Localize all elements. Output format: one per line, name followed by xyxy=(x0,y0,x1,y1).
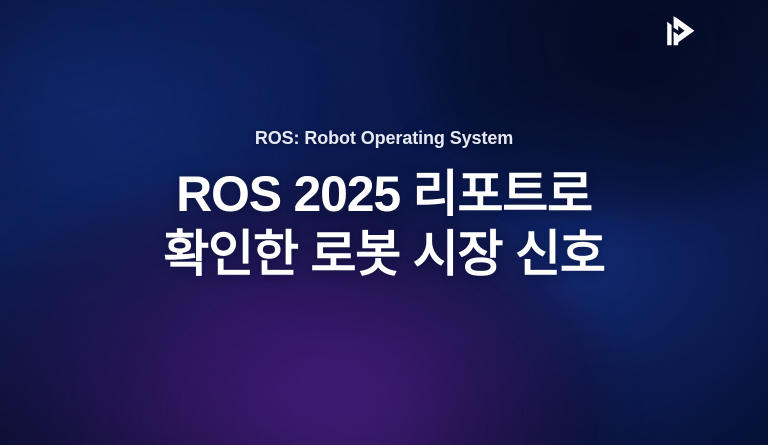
play-arrow-logo-icon xyxy=(662,14,698,48)
banner-eyebrow: ROS: Robot Operating System xyxy=(40,128,728,150)
ros-report-banner: ROS: Robot Operating System ROS 2025 리포트… xyxy=(0,0,768,445)
headline-line-2: 확인한 로봇 시장 신호 xyxy=(40,224,728,285)
page-title: ROS 2025 리포트로 확인한 로봇 시장 신호 xyxy=(40,164,728,285)
banner-text-block: ROS: Robot Operating System ROS 2025 리포트… xyxy=(0,128,768,285)
headline-line-1: ROS 2025 리포트로 xyxy=(40,164,728,225)
